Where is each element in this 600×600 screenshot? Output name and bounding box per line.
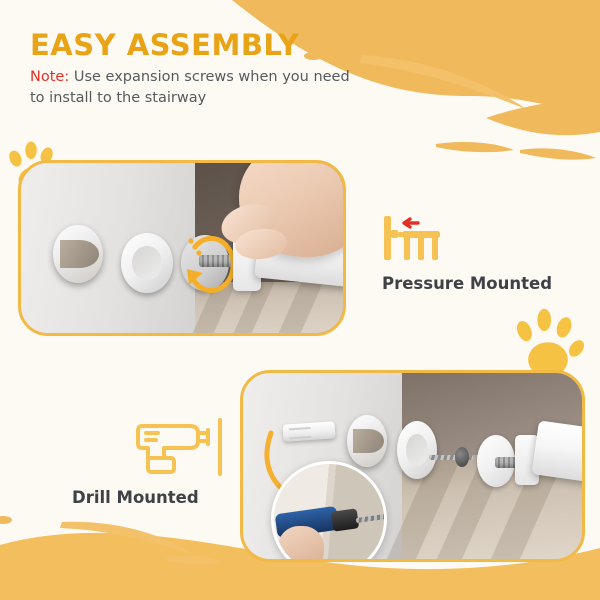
page-title: EASY ASSEMBLY — [30, 30, 380, 60]
drill-mount-scene — [243, 373, 582, 559]
wall-cup-loose — [397, 421, 437, 479]
label-drill-text: Drill Mounted — [72, 488, 282, 507]
power-drill-icon — [134, 418, 230, 476]
swoosh-accent-3 — [520, 148, 596, 159]
note-label: Note: — [30, 69, 69, 85]
wall-cup-installed — [347, 415, 387, 467]
note-text: Use expansion screws when you need to in… — [30, 69, 350, 106]
label-pressure-mounted: Pressure Mounted — [382, 214, 572, 293]
header-block: EASY ASSEMBLY Note: Use expansion screws… — [30, 30, 380, 109]
infographic-canvas: EASY ASSEMBLY Note: Use expansion screws… — [0, 0, 600, 600]
swoosh-accent-5 — [166, 556, 222, 564]
drill-inset-photo — [271, 461, 387, 559]
drill-hand — [278, 526, 324, 559]
amber-wave-blob-2 — [486, 96, 600, 135]
screw-head — [455, 447, 469, 467]
wall-cup-loose — [121, 233, 173, 293]
swoosh-accent-1 — [360, 55, 528, 110]
floor-plank — [278, 282, 323, 333]
wall-cup-installed — [53, 225, 103, 283]
gate-bar — [532, 420, 582, 483]
photo-panel-drill-mounted — [240, 370, 585, 562]
swoosh-dot-2 — [0, 516, 12, 524]
swoosh-accent-2 — [436, 142, 514, 152]
label-pressure-text: Pressure Mounted — [382, 274, 572, 293]
label-drill-mounted: Drill Mounted — [72, 418, 282, 507]
paw-print-icon-right — [514, 309, 587, 377]
swoosh-accent-4 — [60, 522, 196, 556]
note-paragraph: Note: Use expansion screws when you need… — [30, 67, 360, 109]
photo-panel-pressure-mounted — [18, 160, 346, 336]
pressure-mount-scene — [21, 163, 343, 333]
drill-chuck — [331, 508, 360, 531]
pressure-gate-icon — [382, 214, 444, 262]
